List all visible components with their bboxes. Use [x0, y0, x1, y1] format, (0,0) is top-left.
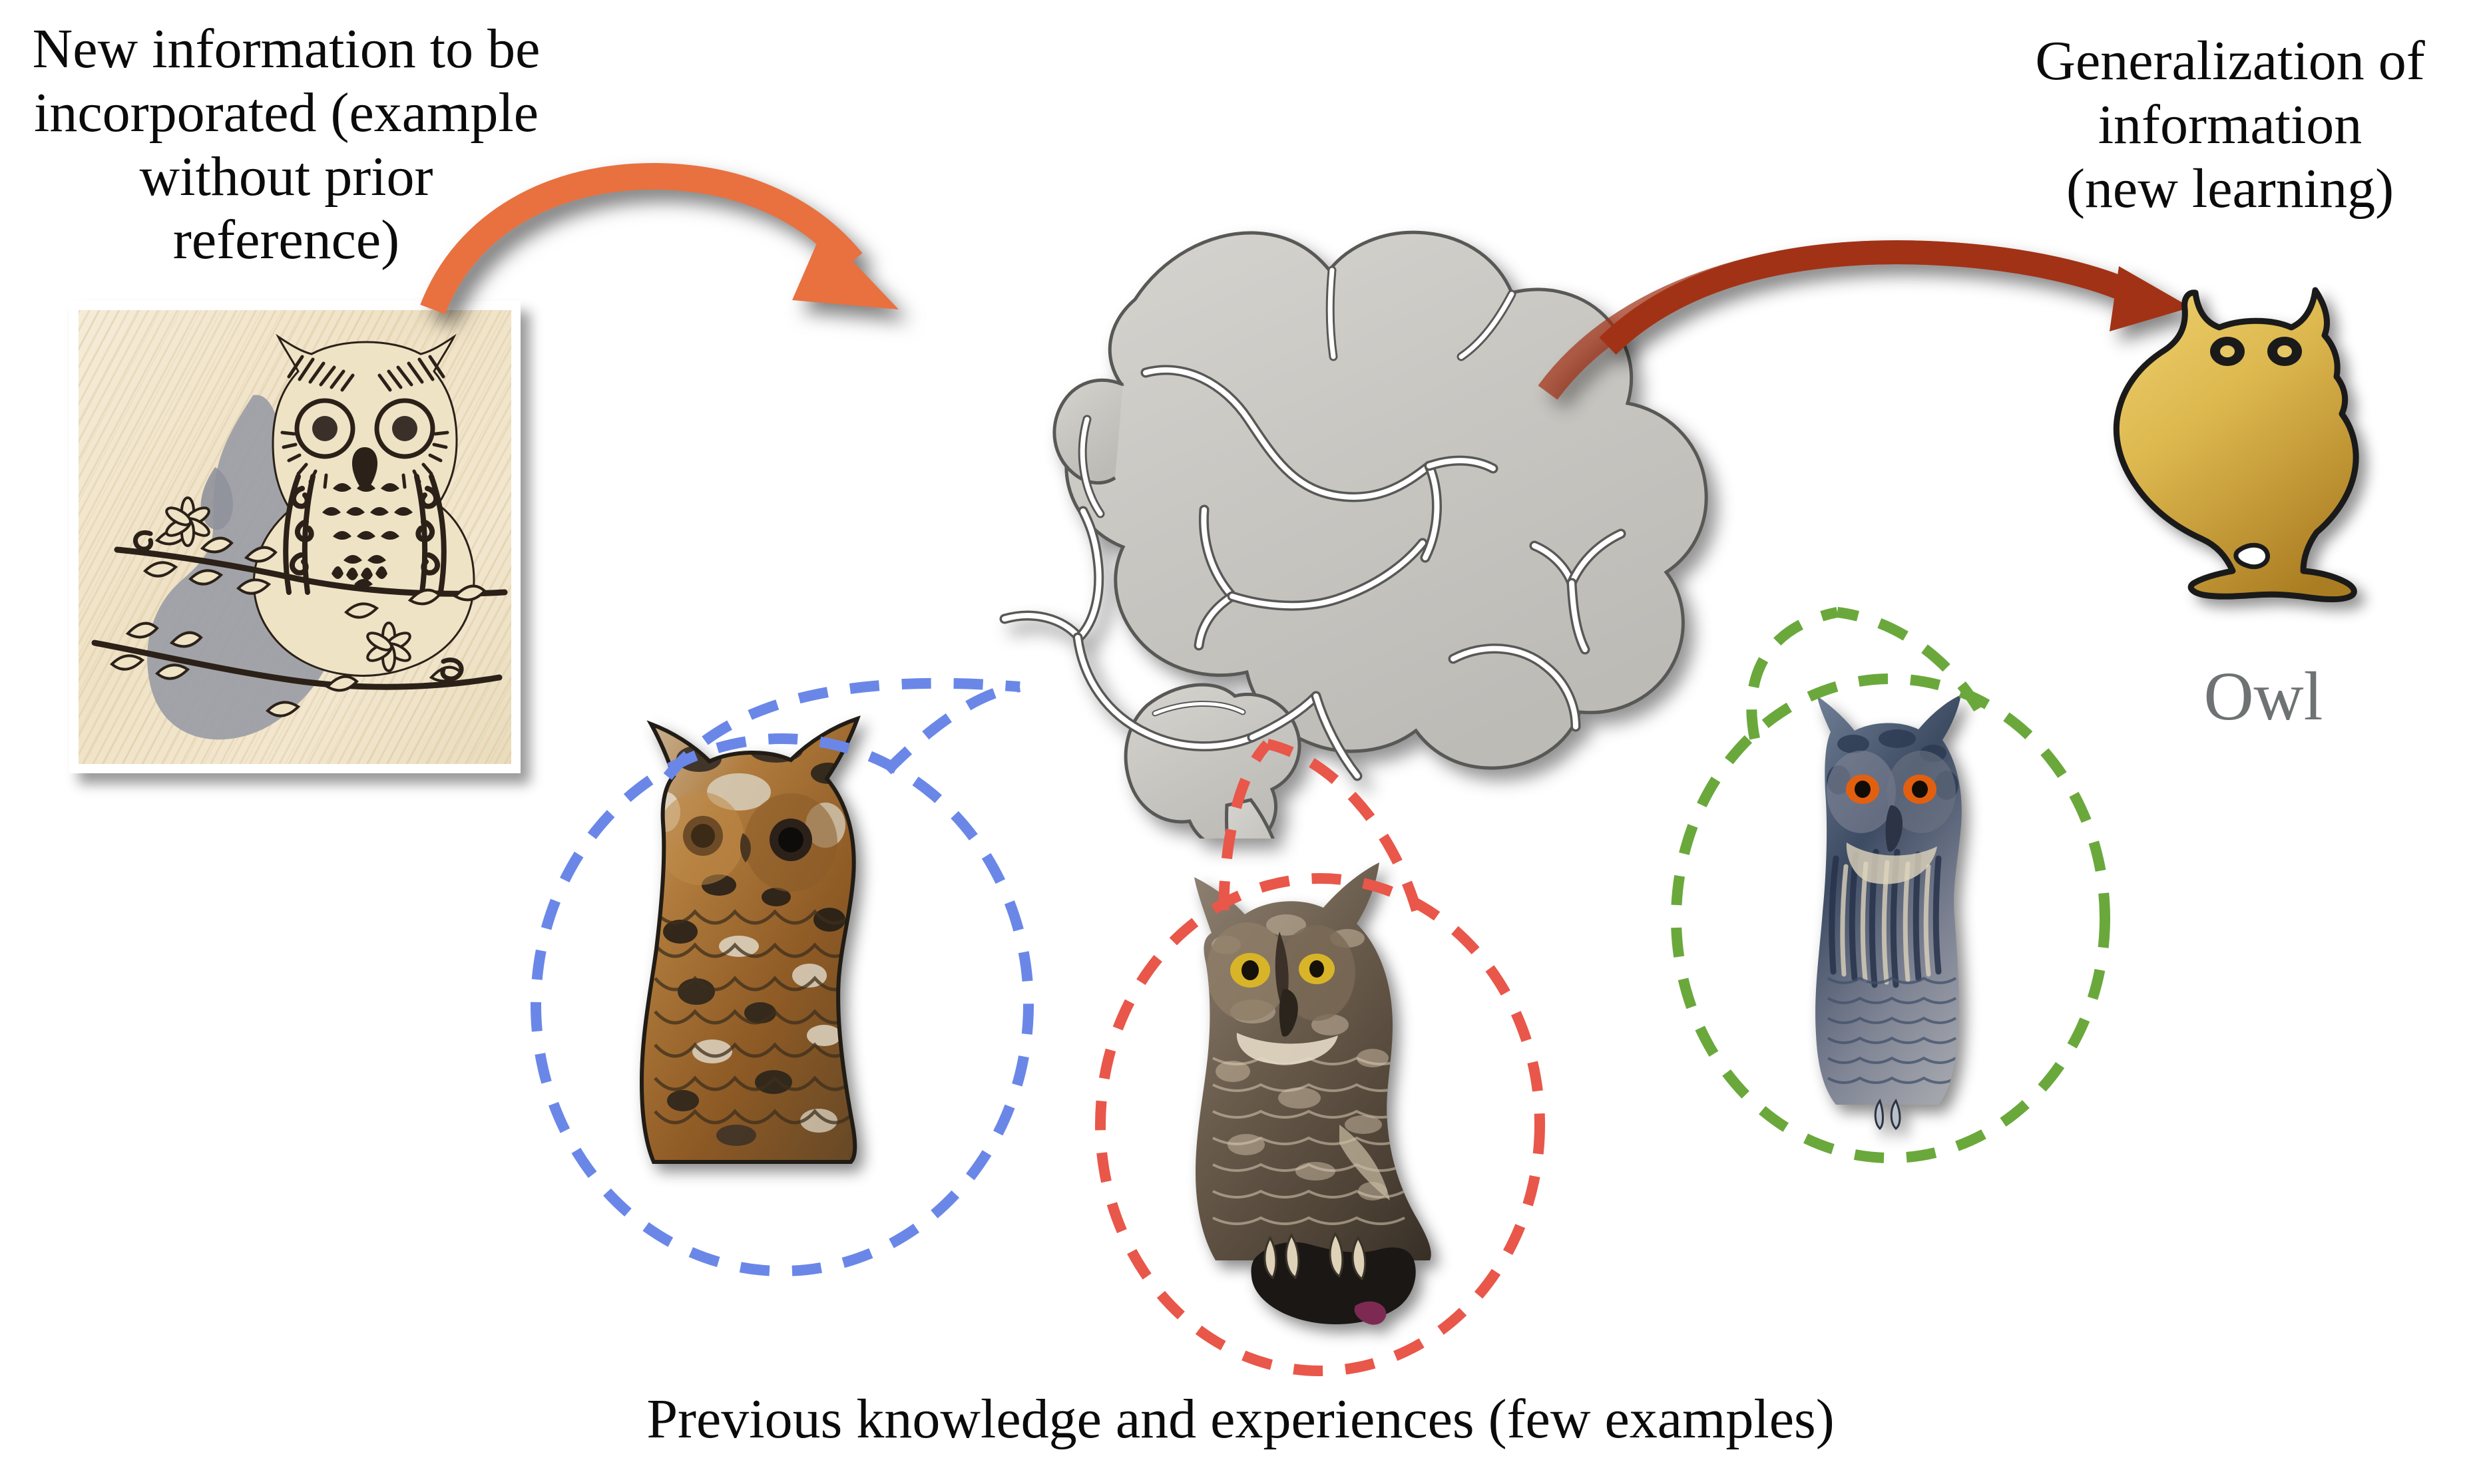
prior-example-photo-great-horned-owl [1173, 858, 1459, 1344]
label-generalization: Generalization of information (new learn… [1980, 29, 2480, 220]
arrow-input-to-brain [413, 143, 1138, 489]
prior-example-photo-eurasian-eagle-owl [1789, 692, 1989, 1131]
diagram-canvas: New information to be incorporated (exam… [0, 0, 2481, 1484]
label-previous-knowledge: Previous knowledge and experiences (few … [0, 1388, 2481, 1451]
label-output-concept: Owl [2124, 657, 2403, 737]
prior-example-photo-stone-owl [619, 712, 884, 1165]
owl-silhouette-icon [2096, 258, 2415, 644]
